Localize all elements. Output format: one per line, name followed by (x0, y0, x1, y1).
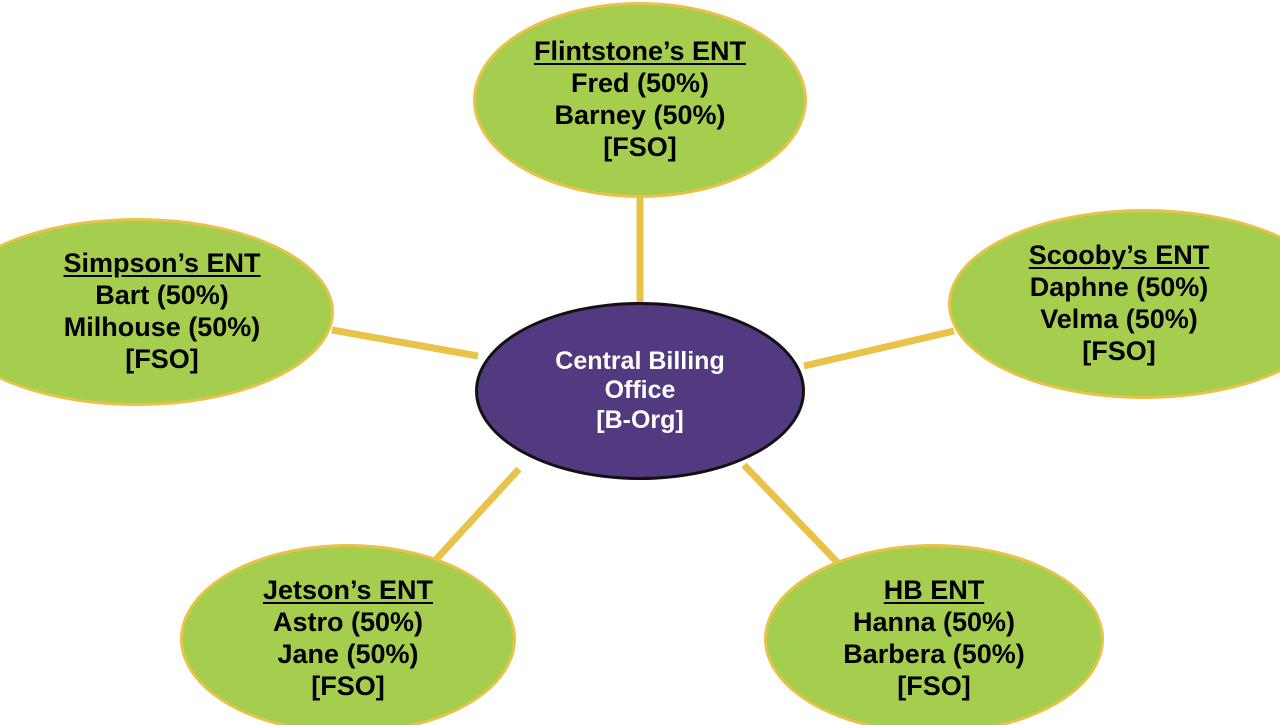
node-scoobys-ent-member-2: Velma (50%) (959, 304, 1279, 336)
node-jetsons-ent-tag: [FSO] (191, 671, 505, 703)
node-jetsons-ent-member-1: Astro (50%) (191, 607, 505, 639)
node-jetsons-ent[interactable]: Jetson’s ENT Astro (50%) Jane (50%) [FSO… (180, 544, 516, 725)
node-hb-ent-member-2: Barbera (50%) (775, 639, 1093, 671)
node-central-billing-office-content: Central Billing Office [B-Org] (478, 347, 802, 436)
node-jetsons-ent-member-2: Jane (50%) (191, 639, 505, 671)
node-central-billing-office[interactable]: Central Billing Office [B-Org] (475, 302, 805, 480)
node-hb-ent[interactable]: HB ENT Hanna (50%) Barbera (50%) [FSO] (764, 544, 1104, 725)
node-hb-ent-tag: [FSO] (775, 671, 1093, 703)
node-scoobys-ent-tag: [FSO] (959, 336, 1279, 368)
node-hb-ent-member-1: Hanna (50%) (775, 607, 1093, 639)
node-flintstones-ent[interactable]: Flintstone’s ENT Fred (50%) Barney (50%)… (473, 2, 807, 198)
node-flintstones-ent-member-1: Fred (50%) (484, 68, 796, 100)
node-central-billing-office-line-3: [B-Org] (486, 406, 794, 436)
node-flintstones-ent-title: Flintstone’s ENT (484, 36, 796, 68)
diagram-canvas: Flintstone’s ENT Fred (50%) Barney (50%)… (0, 0, 1280, 725)
node-simpsons-ent-content: Simpson’s ENT Bart (50%) Milhouse (50%) … (0, 248, 331, 375)
node-simpsons-ent-tag: [FSO] (1, 344, 323, 376)
connector-center-to-scoobys (804, 331, 954, 366)
node-flintstones-ent-content: Flintstone’s ENT Fred (50%) Barney (50%)… (476, 36, 804, 163)
node-hb-ent-content: HB ENT Hanna (50%) Barbera (50%) [FSO] (767, 575, 1101, 702)
node-scoobys-ent-title: Scooby’s ENT (959, 240, 1279, 272)
node-central-billing-office-line-2: Office (486, 376, 794, 406)
node-central-billing-office-line-1: Central Billing (486, 347, 794, 377)
node-hb-ent-title: HB ENT (775, 575, 1093, 607)
node-jetsons-ent-title: Jetson’s ENT (191, 575, 505, 607)
connector-center-to-hb (744, 465, 838, 563)
node-scoobys-ent-content: Scooby’s ENT Daphne (50%) Velma (50%) [F… (951, 240, 1280, 367)
node-simpsons-ent-title: Simpson’s ENT (1, 248, 323, 280)
node-flintstones-ent-tag: [FSO] (484, 132, 796, 164)
node-flintstones-ent-member-2: Barney (50%) (484, 100, 796, 132)
node-simpsons-ent-member-2: Milhouse (50%) (1, 312, 323, 344)
node-jetsons-ent-content: Jetson’s ENT Astro (50%) Jane (50%) [FSO… (183, 575, 513, 702)
node-simpsons-ent-member-1: Bart (50%) (1, 280, 323, 312)
node-scoobys-ent-member-1: Daphne (50%) (959, 272, 1279, 304)
connector-center-to-simpsons (332, 330, 478, 356)
connector-center-to-jetsons (430, 469, 519, 566)
